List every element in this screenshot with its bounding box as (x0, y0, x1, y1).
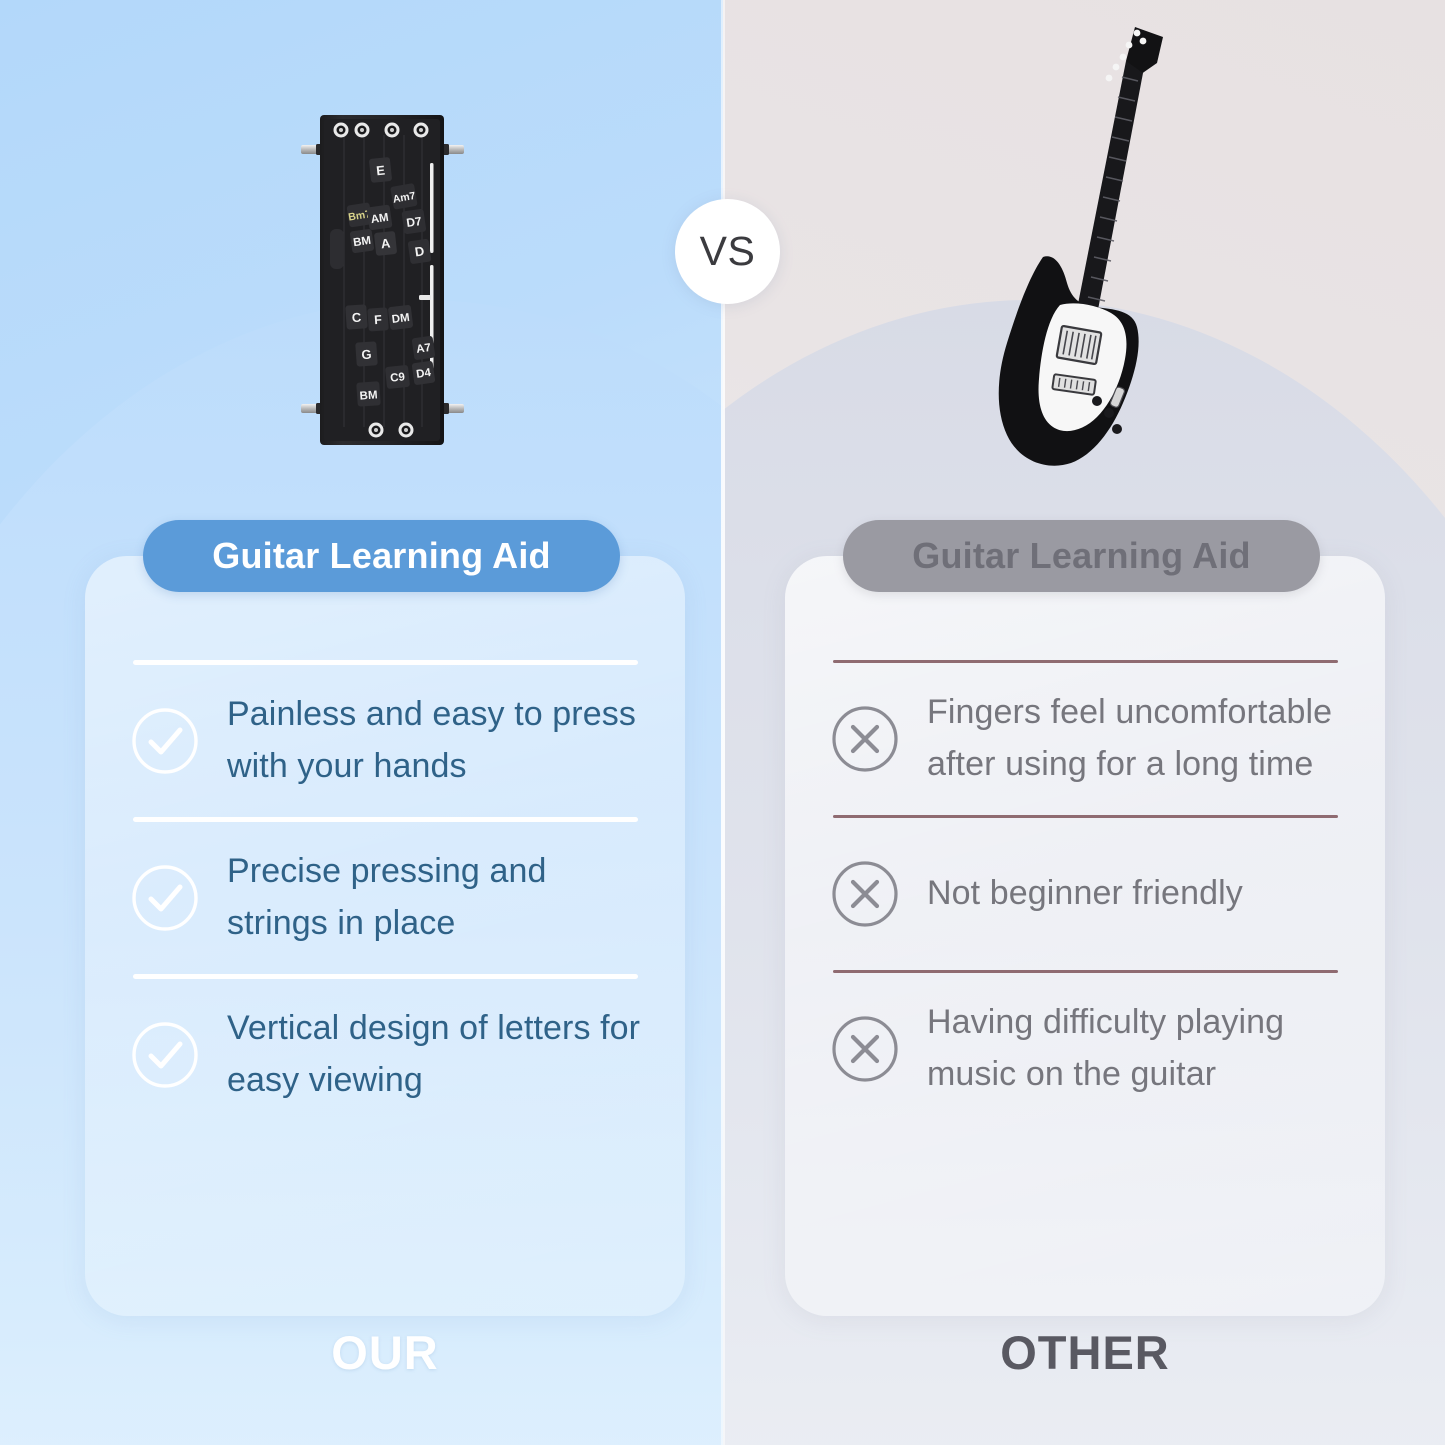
feature-label-our-1: Painless and easy to press with your han… (227, 689, 641, 792)
svg-text:D7: D7 (405, 214, 422, 230)
feature-label-other-3: Having difficulty playing music on the g… (927, 997, 1341, 1100)
svg-text:AM: AM (370, 212, 389, 226)
feature-label-other-1: Fingers feel uncomfortable after using f… (927, 687, 1341, 790)
svg-text:DM: DM (391, 312, 410, 326)
caption-other: OTHER (785, 1325, 1385, 1380)
x-circle-icon (829, 858, 901, 930)
feature-row-other-1: Fingers feel uncomfortable after using f… (829, 663, 1341, 815)
svg-text:C9: C9 (390, 371, 406, 384)
x-circle-icon (829, 703, 901, 775)
x-circle-icon (829, 1013, 901, 1085)
comparison-infographic: E Am7 Bm7 AM D7 BM (0, 0, 1445, 1445)
caption-our: OUR (85, 1325, 685, 1380)
svg-text:G: G (361, 347, 372, 363)
feature-row-our-1: Painless and easy to press with your han… (129, 665, 641, 817)
feature-label-our-3: Vertical design of letters for easy view… (227, 1003, 641, 1106)
svg-text:BM: BM (359, 389, 378, 402)
svg-text:D4: D4 (416, 367, 433, 381)
check-circle-icon (129, 1019, 201, 1091)
guitar-learning-aid-image: E Am7 Bm7 AM D7 BM (300, 105, 465, 455)
svg-text:A7: A7 (416, 342, 432, 356)
badge-our-title: Guitar Learning Aid (143, 520, 620, 592)
svg-text:BM: BM (352, 235, 371, 249)
feature-label-our-2: Precise pressing and strings in place (227, 846, 641, 949)
svg-text:F: F (374, 313, 383, 328)
feature-row-other-2: Not beginner friendly (829, 818, 1341, 970)
feature-row-our-2: Precise pressing and strings in place (129, 822, 641, 974)
badge-other-label: Guitar Learning Aid (912, 535, 1251, 577)
card-other: Fingers feel uncomfortable after using f… (785, 556, 1385, 1316)
card-our: Painless and easy to press with your han… (85, 556, 685, 1316)
badge-our-label: Guitar Learning Aid (212, 535, 551, 577)
feature-row-our-3: Vertical design of letters for easy view… (129, 979, 641, 1131)
electric-guitar-image (985, 15, 1195, 485)
vs-badge: VS (675, 199, 780, 304)
vs-label: VS (700, 228, 756, 275)
svg-text:C: C (351, 310, 362, 326)
feature-label-other-2: Not beginner friendly (927, 868, 1243, 920)
badge-other-title: Guitar Learning Aid (843, 520, 1320, 592)
check-circle-icon (129, 862, 201, 934)
feature-row-other-3: Having difficulty playing music on the g… (829, 973, 1341, 1125)
check-circle-icon (129, 705, 201, 777)
